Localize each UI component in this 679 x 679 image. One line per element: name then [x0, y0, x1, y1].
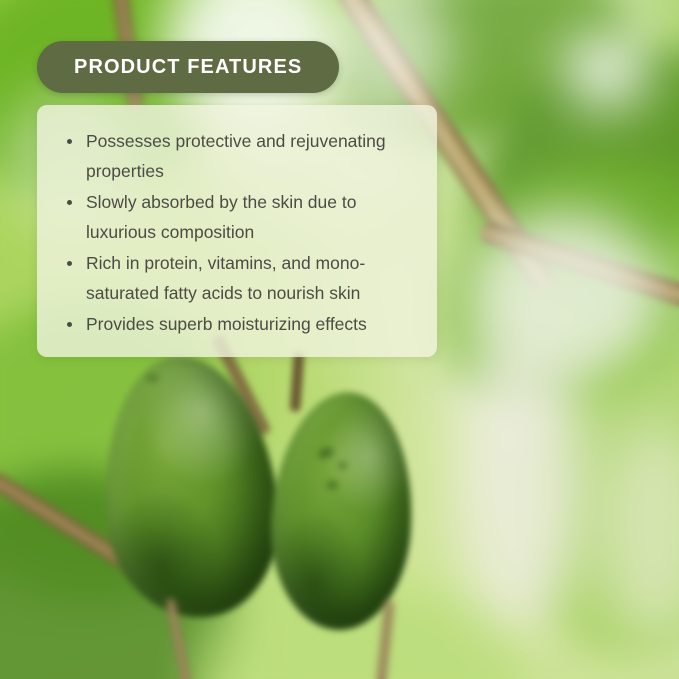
- feature-text: Slowly absorbed by the skin due to luxur…: [86, 192, 356, 242]
- feature-list: Possesses protective and rejuvenating pr…: [55, 127, 417, 340]
- feature-text: Provides superb moisturizing effects: [86, 314, 367, 334]
- avocado-blemish: [327, 481, 338, 489]
- feature-list-item: Provides superb moisturizing effects: [55, 310, 417, 340]
- feature-text: Possesses protective and rejuvenating pr…: [86, 131, 386, 181]
- feature-list-item: Rich in protein, vitamins, and mono-satu…: [55, 249, 417, 308]
- bullet-dot-icon: [67, 139, 72, 144]
- badge-label: PRODUCT FEATURES: [74, 56, 302, 79]
- features-card: Possesses protective and rejuvenating pr…: [37, 105, 437, 357]
- product-features-badge: PRODUCT FEATURES: [37, 41, 339, 93]
- avocado-blemish: [338, 462, 347, 469]
- feature-list-item: Possesses protective and rejuvenating pr…: [55, 127, 417, 186]
- photo-highlight: [455, 330, 585, 630]
- bullet-dot-icon: [67, 322, 72, 327]
- product-features-banner: PRODUCT FEATURES Possesses protective an…: [0, 0, 679, 679]
- bullet-dot-icon: [67, 261, 72, 266]
- photo-highlight: [560, 30, 650, 110]
- bullet-dot-icon: [67, 200, 72, 205]
- feature-text: Rich in protein, vitamins, and mono-satu…: [86, 253, 365, 303]
- feature-list-item: Slowly absorbed by the skin due to luxur…: [55, 188, 417, 247]
- avocado-blemish: [146, 374, 159, 382]
